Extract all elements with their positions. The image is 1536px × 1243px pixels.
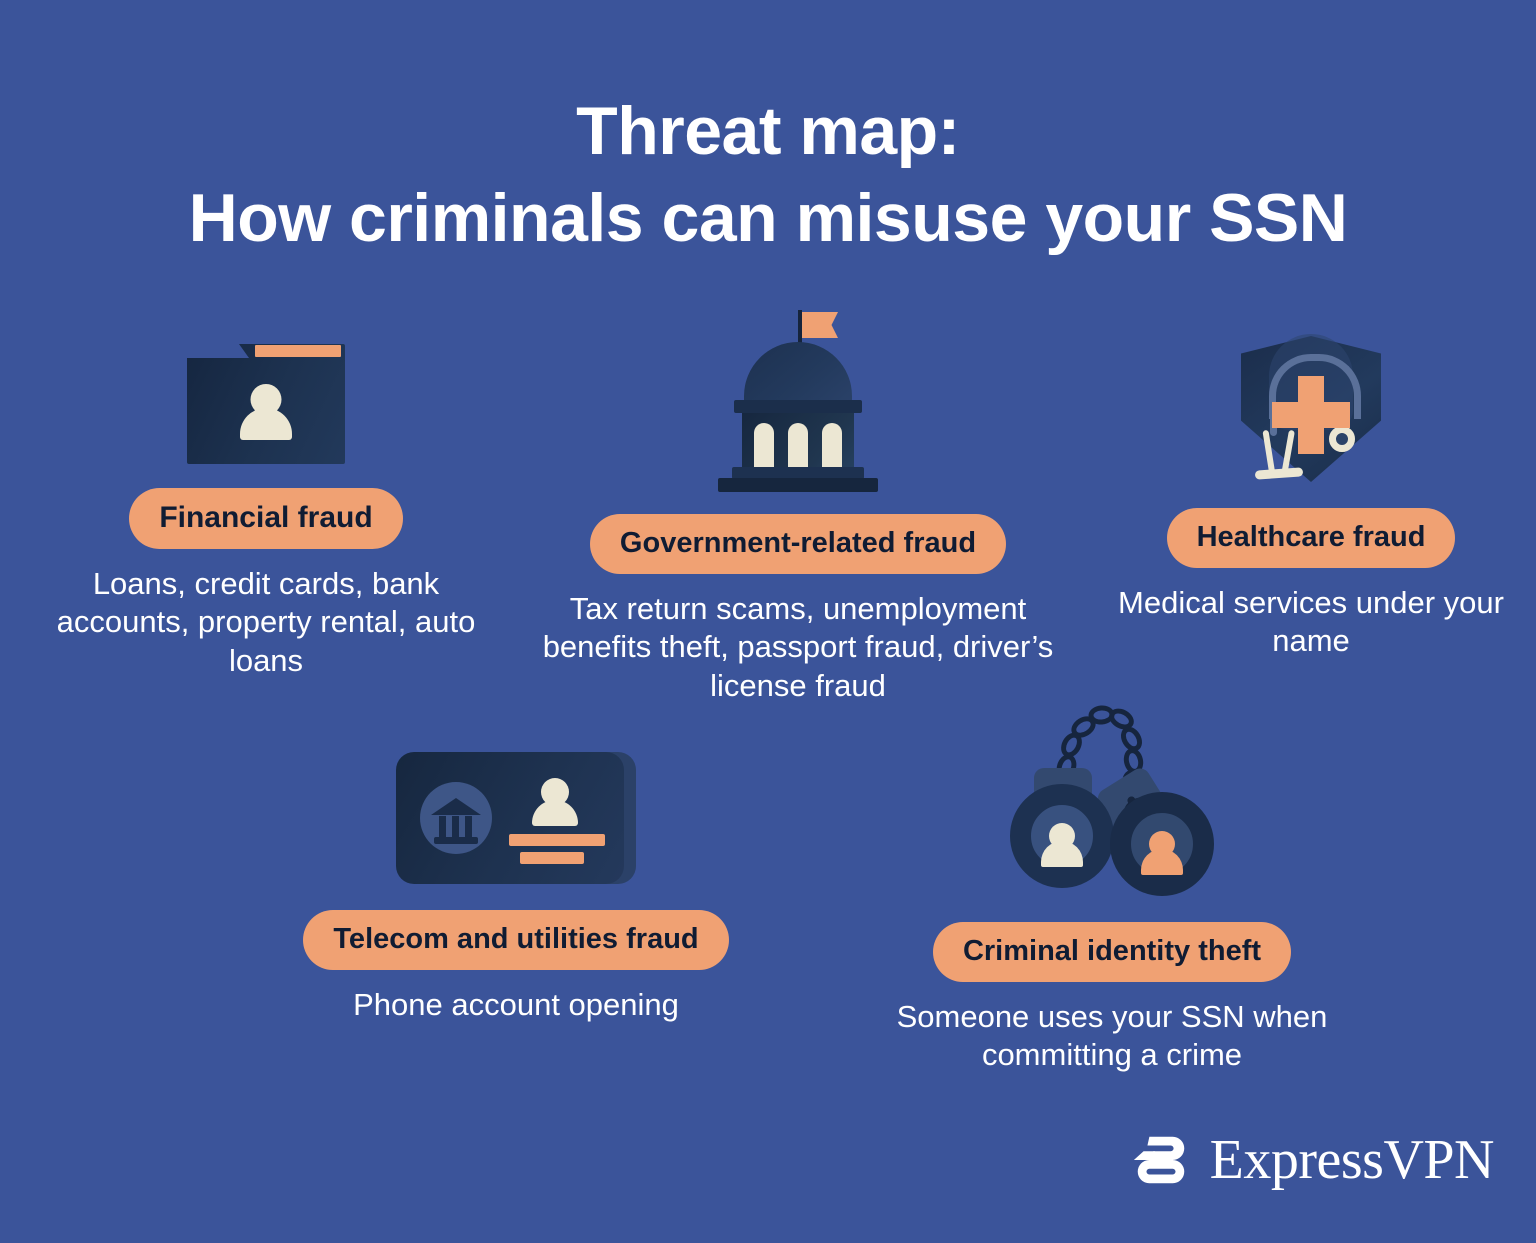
building-dome: [744, 342, 852, 402]
description-telecom-fraud: Phone account opening: [252, 986, 780, 1024]
expressvpn-logo-mark: [1130, 1129, 1192, 1191]
label-financial-fraud[interactable]: Financial fraud: [129, 488, 402, 549]
label-healthcare-fraud[interactable]: Healthcare fraud: [1167, 508, 1456, 568]
title-line-2: How criminals can misuse your SSN: [0, 175, 1536, 262]
flag-icon: [802, 312, 838, 338]
infographic-canvas: Threat map: How criminals can misuse you…: [0, 0, 1536, 1243]
person-silhouette: [530, 778, 580, 826]
building-step-lower: [718, 478, 878, 492]
folder-person-icon: [187, 336, 345, 464]
folder-notch: [187, 344, 249, 358]
building-body: [742, 413, 854, 471]
phone-body: [396, 752, 624, 884]
building-cornice: [734, 400, 862, 413]
stethoscope-ring: [1329, 426, 1355, 452]
cuff-ring-left: [1010, 784, 1114, 888]
cuff-ring-right: [1110, 792, 1214, 896]
detail-bar-2: [520, 852, 584, 864]
shield-stethoscope-icon: [1241, 336, 1381, 486]
title-line-1: Threat map:: [0, 88, 1536, 175]
description-financial-fraud: Loans, credit cards, bank accounts, prop…: [36, 565, 496, 680]
expressvpn-logo[interactable]: ExpressVPN: [1130, 1129, 1494, 1191]
expressvpn-wordmark: ExpressVPN: [1210, 1132, 1494, 1188]
folder-tab: [255, 345, 341, 357]
medical-cross-bar: [1272, 402, 1350, 428]
card-criminal-identity-theft: Criminal identity theft Someone uses you…: [888, 688, 1336, 1075]
description-healthcare-fraud: Medical services under your name: [1096, 584, 1526, 661]
label-government-fraud[interactable]: Government-related fraud: [590, 514, 1006, 574]
person-silhouette: [238, 384, 294, 440]
bank-icon: [420, 782, 492, 854]
person-silhouette-victim: [1040, 823, 1084, 867]
card-telecom-fraud: Telecom and utilities fraud Phone accoun…: [252, 752, 780, 1024]
card-government-fraud: Government-related fraud Tax return scam…: [528, 300, 1068, 705]
page-title: Threat map: How criminals can misuse you…: [0, 88, 1536, 262]
card-financial-fraud: Financial fraud Loans, credit cards, ban…: [36, 336, 496, 680]
phone-account-icon: [396, 752, 636, 884]
description-criminal-identity-theft: Someone uses your SSN when committing a …: [888, 998, 1336, 1075]
label-telecom-fraud[interactable]: Telecom and utilities fraud: [303, 910, 728, 970]
government-building-icon: [718, 300, 878, 492]
person-silhouette-criminal: [1140, 831, 1184, 875]
label-criminal-identity-theft[interactable]: Criminal identity theft: [933, 922, 1291, 982]
detail-bar-1: [509, 834, 605, 846]
card-healthcare-fraud: Healthcare fraud Medical services under …: [1096, 336, 1526, 661]
handcuffs-icon: [1004, 688, 1220, 900]
stethoscope-chestpiece: [1255, 467, 1304, 479]
